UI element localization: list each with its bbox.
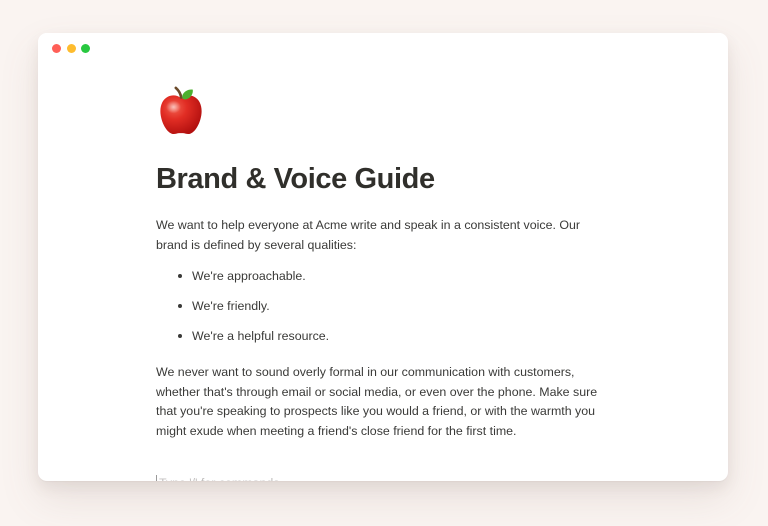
apple-emoji-icon[interactable] [156, 82, 206, 138]
text-cursor [156, 475, 157, 481]
window-titlebar [38, 33, 728, 66]
intro-paragraph: We want to help everyone at Acme write a… [156, 216, 608, 255]
document-content: Brand & Voice Guide We want to help ever… [156, 82, 608, 481]
document-canvas: Brand & Voice Guide We want to help ever… [38, 82, 728, 481]
close-window-button[interactable] [52, 44, 61, 53]
list-item: We're friendly. [192, 297, 608, 316]
list-item: We're approachable. [192, 267, 608, 286]
list-item: We're a helpful resource. [192, 327, 608, 346]
slash-command-placeholder: Type '/' for commands [156, 475, 279, 481]
tone-paragraph: We never want to sound overly formal in … [156, 363, 608, 441]
brand-qualities-list: We're approachable. We're friendly. We'r… [156, 267, 608, 345]
app-window: Brand & Voice Guide We want to help ever… [38, 33, 728, 481]
minimize-window-button[interactable] [67, 44, 76, 53]
page-title: Brand & Voice Guide [156, 162, 608, 196]
traffic-light-controls [52, 44, 90, 53]
maximize-window-button[interactable] [81, 44, 90, 53]
editor-empty-block[interactable]: Type '/' for commands [156, 474, 608, 481]
